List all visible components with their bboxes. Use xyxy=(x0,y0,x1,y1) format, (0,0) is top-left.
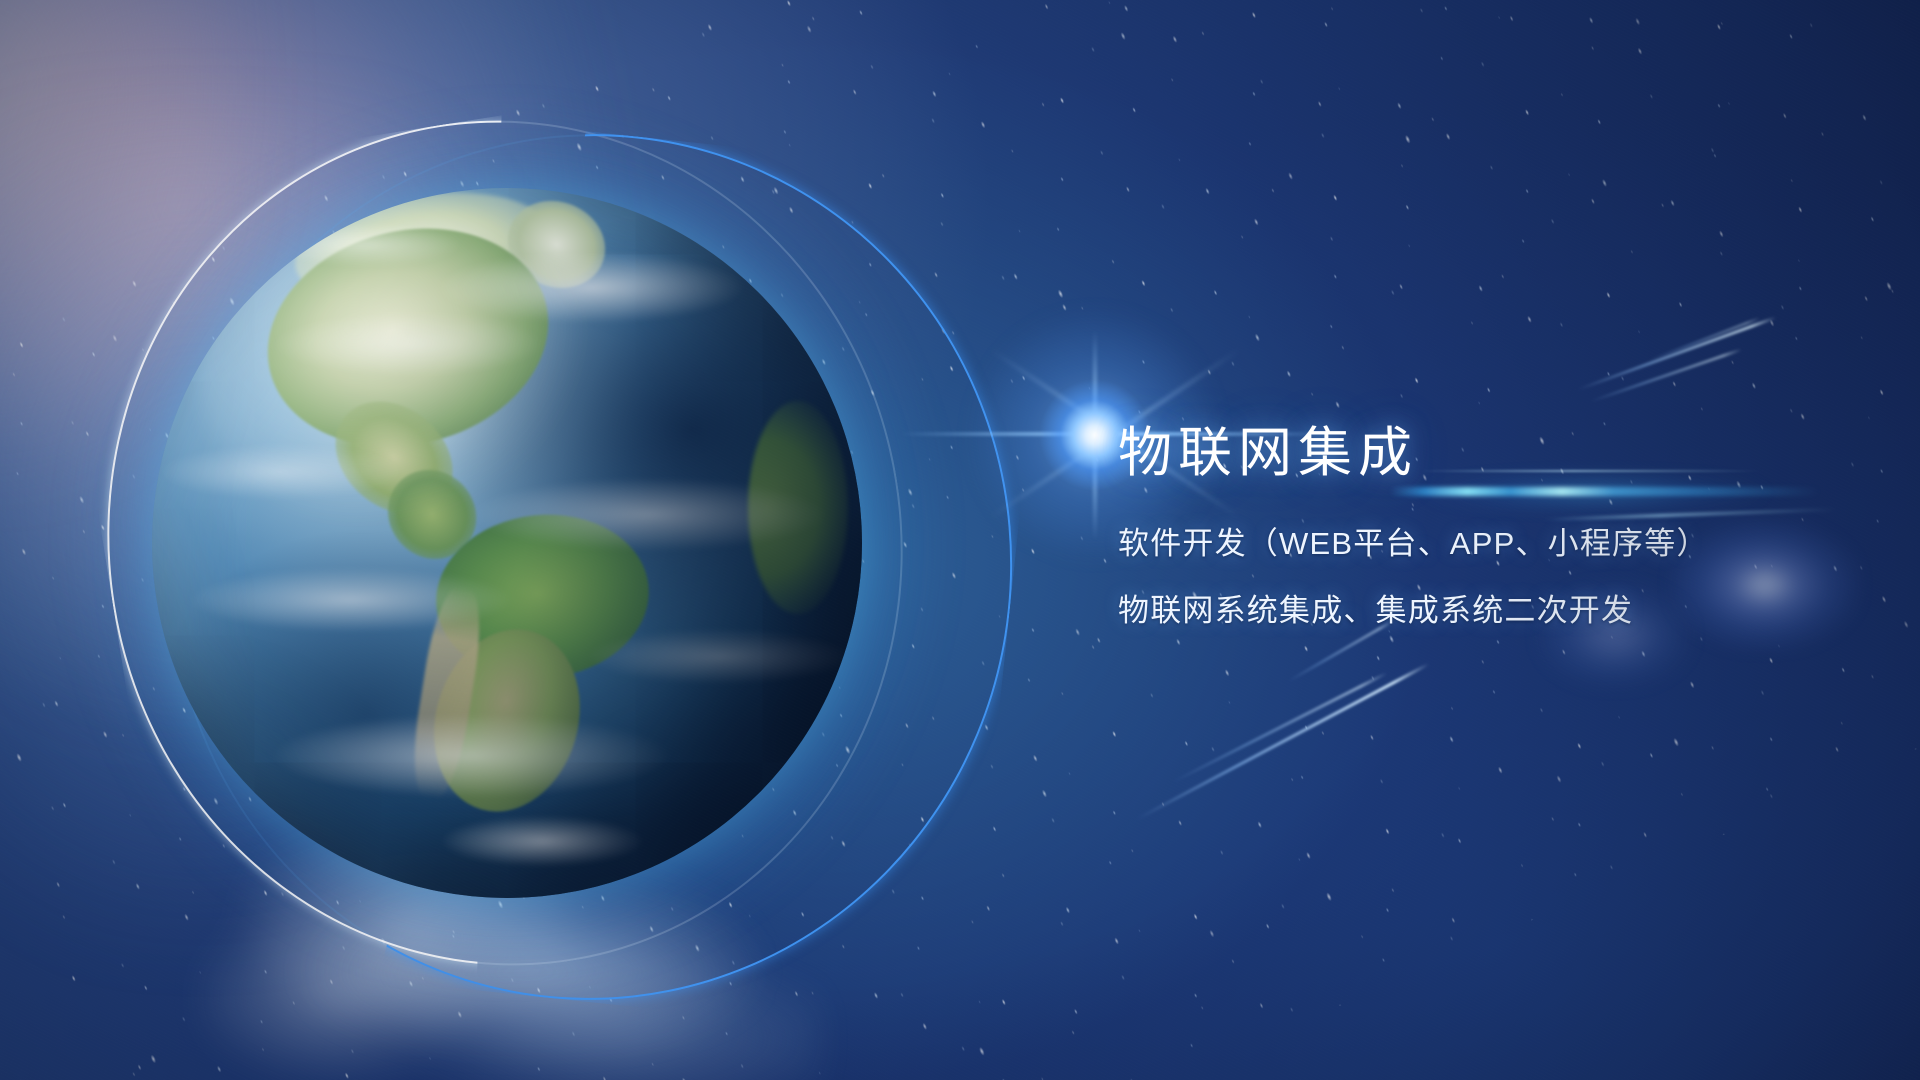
grain-overlay xyxy=(0,0,1920,1080)
banner-stage: 物联网集成 软件开发（WEB平台、APP、小程序等） 物联网系统集成、集成系统二… xyxy=(0,0,1920,1080)
